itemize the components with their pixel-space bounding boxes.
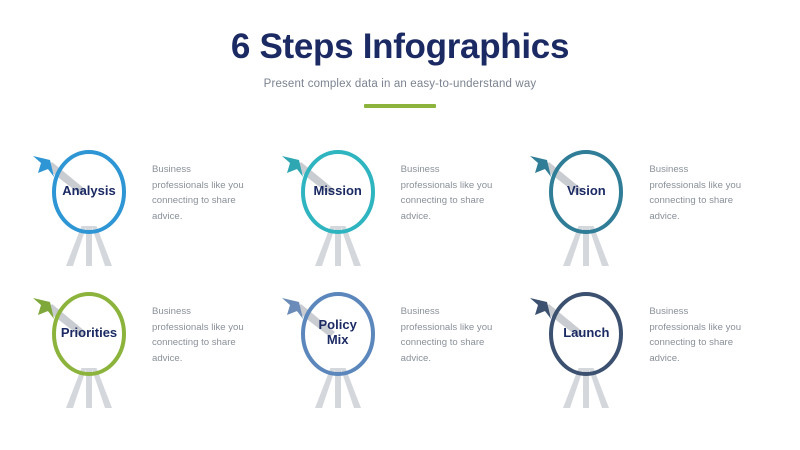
divider-wrap [0, 104, 800, 108]
infographic-slide: 6 Steps Infographics Present complex dat… [0, 0, 800, 450]
header: 6 Steps Infographics Present complex dat… [0, 0, 800, 108]
target-easel-icon[interactable]: Vision [527, 140, 645, 280]
arrow-shaft [295, 162, 335, 195]
arrow-shaft [543, 304, 583, 337]
step-item[interactable]: PrioritiesBusiness professionals like yo… [30, 282, 273, 422]
step-item[interactable]: LaunchBusiness professionals like you co… [527, 282, 770, 422]
target-easel-icon[interactable]: PolicyMix [279, 282, 397, 422]
step-description: Business professionals like you connecti… [649, 304, 741, 366]
steps-grid: AnalysisBusiness professionals like you … [30, 140, 770, 422]
easel-target-graphic [30, 282, 148, 422]
arrow-head [282, 156, 303, 177]
target-easel-icon[interactable]: Launch [527, 282, 645, 422]
arrow-shaft [543, 162, 583, 195]
easel-target-graphic [527, 140, 645, 280]
step-description: Business professionals like you connecti… [401, 304, 493, 366]
target-ring [551, 294, 621, 374]
arrow-head [530, 156, 551, 177]
step-item[interactable]: VisionBusiness professionals like you co… [527, 140, 770, 280]
arrow-shaft [295, 304, 335, 337]
step-description: Business professionals like you connecti… [401, 162, 493, 224]
page-title: 6 Steps Infographics [0, 28, 800, 67]
target-ring [551, 152, 621, 232]
arrow-head [282, 298, 303, 319]
arrow-shaft [46, 304, 86, 337]
accent-divider [364, 104, 436, 108]
easel-target-graphic [527, 282, 645, 422]
arrow-head [33, 298, 54, 319]
step-description: Business professionals like you connecti… [152, 304, 244, 366]
easel-target-graphic [279, 140, 397, 280]
step-description: Business professionals like you connecti… [152, 162, 244, 224]
arrow-head [33, 156, 54, 177]
target-ring [54, 294, 124, 374]
target-ring [54, 152, 124, 232]
target-ring [303, 152, 373, 232]
step-item[interactable]: PolicyMixBusiness professionals like you… [279, 282, 522, 422]
step-item[interactable]: AnalysisBusiness professionals like you … [30, 140, 273, 280]
step-description: Business professionals like you connecti… [649, 162, 741, 224]
arrow-head [530, 298, 551, 319]
easel-target-graphic [30, 140, 148, 280]
easel-target-graphic [279, 282, 397, 422]
target-easel-icon[interactable]: Priorities [30, 282, 148, 422]
page-subtitle: Present complex data in an easy-to-under… [0, 78, 800, 90]
target-easel-icon[interactable]: Analysis [30, 140, 148, 280]
step-item[interactable]: MissionBusiness professionals like you c… [279, 140, 522, 280]
target-easel-icon[interactable]: Mission [279, 140, 397, 280]
arrow-shaft [46, 162, 86, 195]
target-ring [303, 294, 373, 374]
